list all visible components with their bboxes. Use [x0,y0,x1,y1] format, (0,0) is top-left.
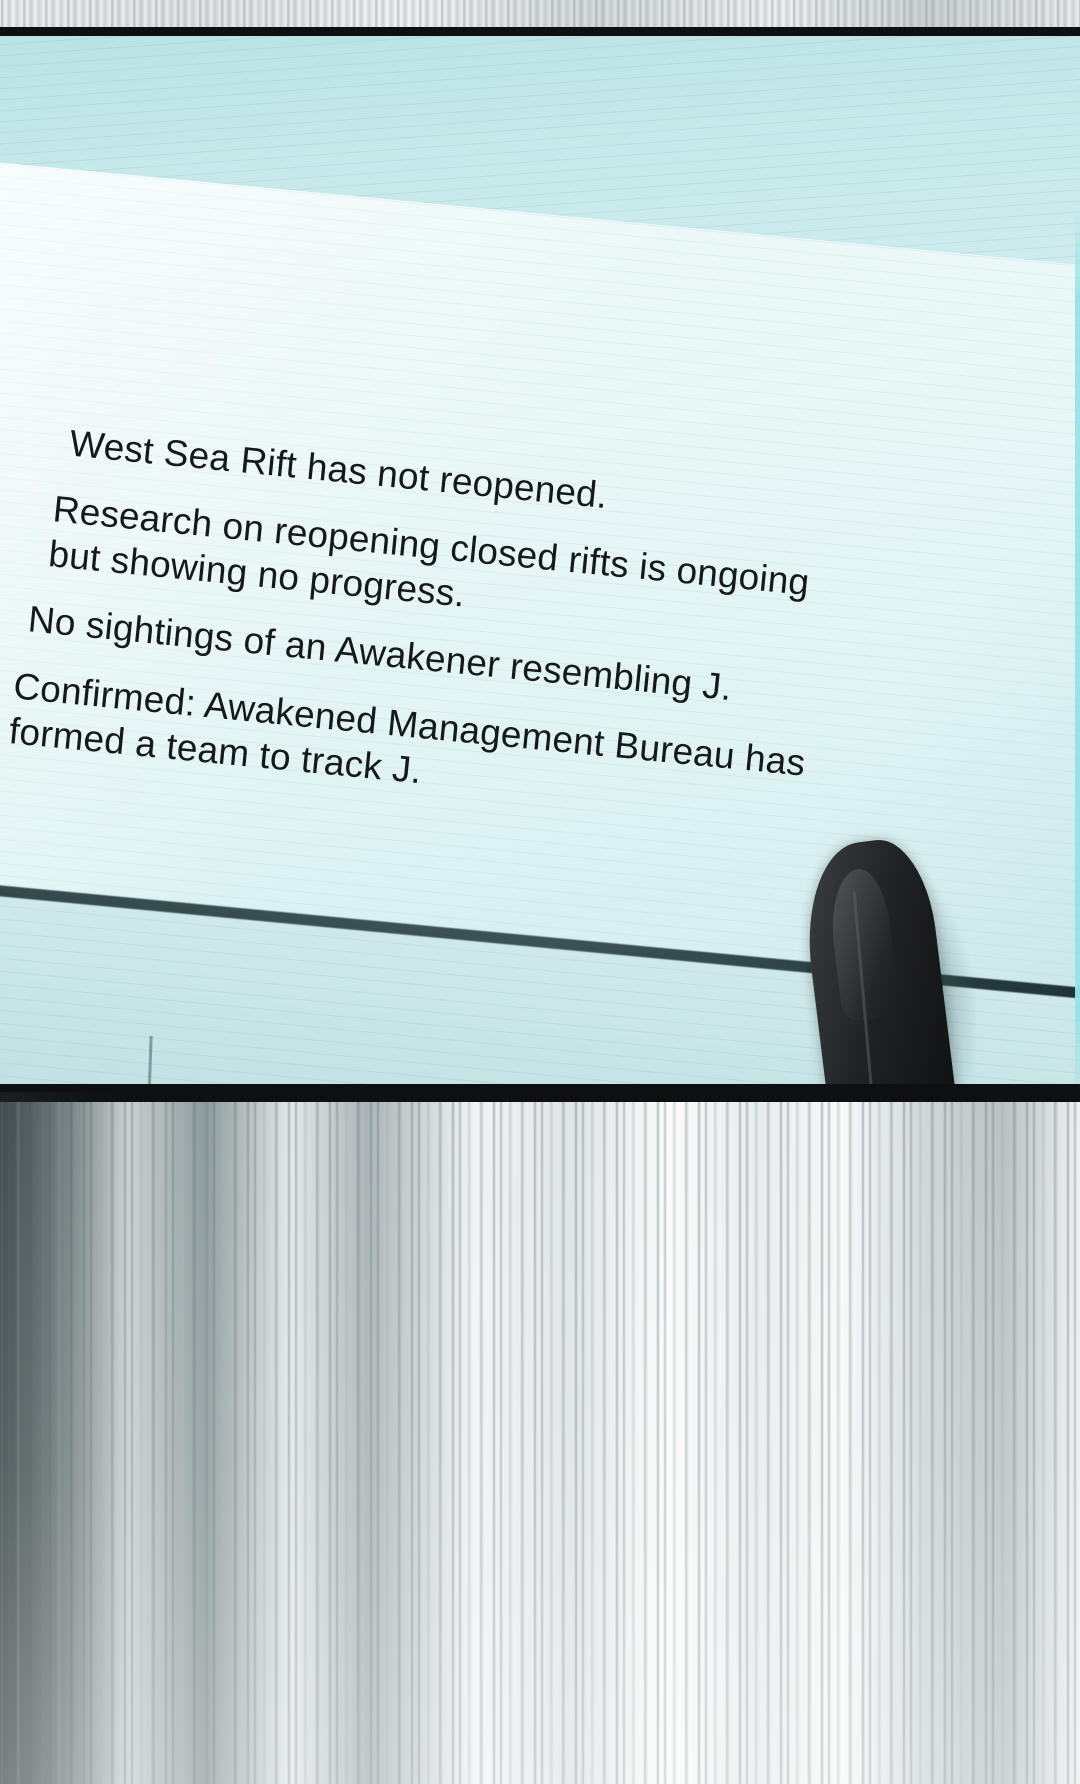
panel-bottom-border [0,1084,1080,1092]
blur-left-darkening [0,1092,120,1784]
bottom-motion-blur-strip [0,1092,1080,1784]
blur-bottom-fade [0,1092,1080,1784]
comic-page: West Sea Rift has not reopened. Research… [0,0,1080,1784]
top-motion-blur-strip [0,0,1080,36]
comic-panel: West Sea Rift has not reopened. Research… [0,36,1080,1092]
shoe-illustration [800,831,975,1092]
board-right-rim [1075,206,1080,1092]
